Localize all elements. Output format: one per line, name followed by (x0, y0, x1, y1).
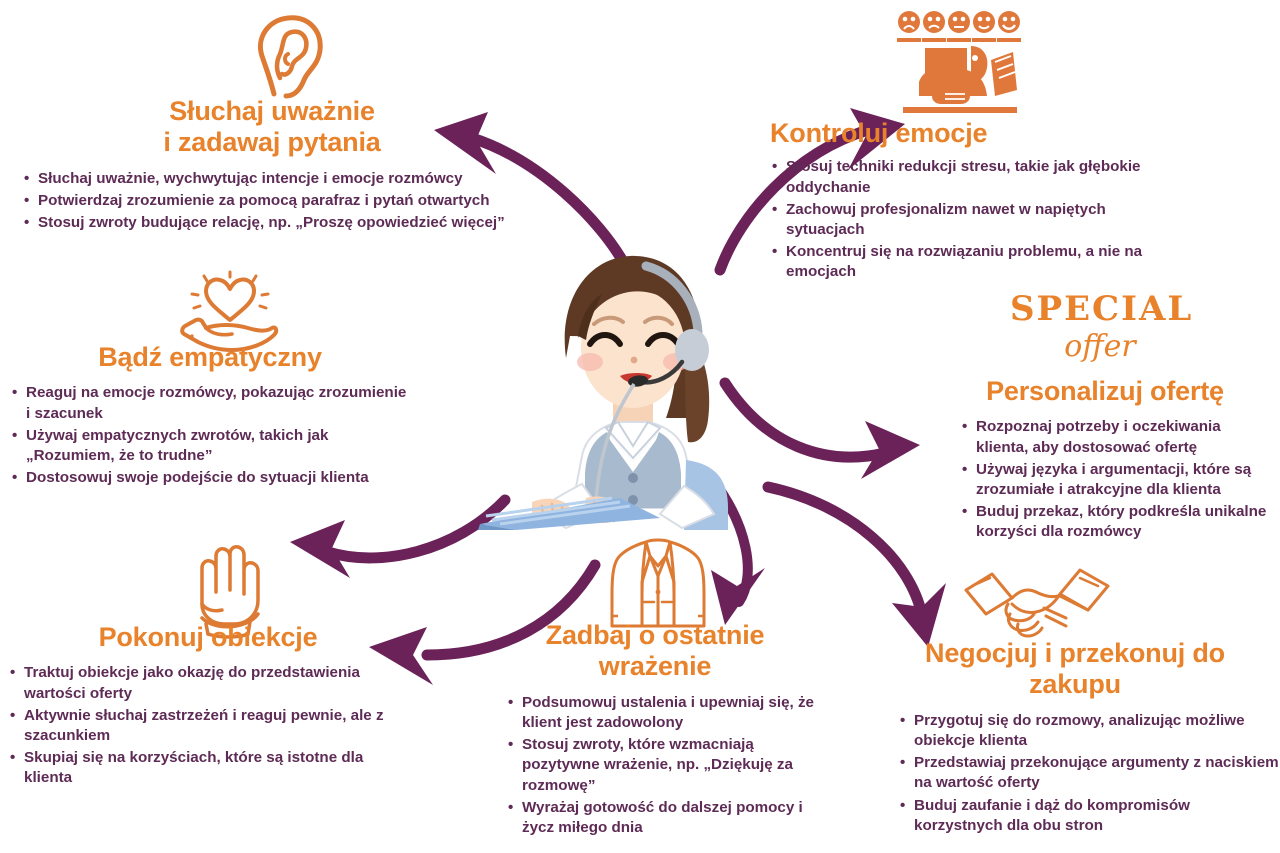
section-title-sluchaj: Słuchaj uważnie i zadawaj pytania (22, 96, 522, 159)
ear-icon (248, 12, 338, 100)
section-empatyczny: Bądź empatyczny Reaguj na emocje rozmówc… (10, 342, 410, 490)
special-offer-line1: SPECIAL (1010, 292, 1190, 326)
list-item: Buduj zaufanie i dąż do kompromisów korz… (898, 796, 1280, 836)
section-negocjuj: Negocjuj i przekonuj do zakupu Przygotuj… (870, 638, 1280, 838)
list-item: Stosuj zwroty, które wzmacniają pozytywn… (506, 735, 820, 796)
section-title-pokonuj: Pokonuj obiekcje (8, 622, 408, 653)
bullet-list-wrazenie: Podsumowuj ustalenia i upewniaj się, że … (490, 693, 820, 839)
list-item: Dostosowuj swoje podejście do sytuacji k… (10, 468, 410, 488)
title-line-1: Zadbaj o ostatnie (546, 620, 765, 650)
section-title-personalizuj: Personalizuj ofertę (940, 376, 1270, 407)
list-item: Buduj przekaz, który podkreśla unikalne … (960, 502, 1270, 542)
list-item: Potwierdzaj zrozumienie za pomocą parafr… (22, 191, 522, 211)
section-title-kontroluj: Kontroluj emocje (770, 118, 1170, 149)
list-item: Rozpoznaj potrzeby i oczekiwania klienta… (960, 417, 1270, 457)
list-item: Zachowuj profesjonalizm nawet w napiętyc… (770, 200, 1170, 240)
list-item: Skupiaj się na korzyściach, które są ist… (8, 748, 408, 788)
section-kontroluj: Kontroluj emocje Stosuj techniki redukcj… (770, 118, 1170, 285)
list-item: Używaj języka i argumentacji, które są z… (960, 460, 1270, 500)
section-pokonuj: Pokonuj obiekcje Traktuj obiekcje jako o… (8, 622, 408, 791)
handshake-icon (962, 552, 1112, 640)
special-offer-lettering: SPECIAL offer (1010, 292, 1190, 363)
title-line-2: i zadawaj pytania (163, 127, 380, 157)
special-offer-line2: offer (1010, 330, 1190, 363)
infographic-canvas: Słuchaj uważnie i zadawaj pytania Słucha… (0, 0, 1280, 853)
list-item: Słuchaj uważnie, wychwytując intencje i … (22, 169, 522, 189)
list-item: Przygotuj się do rozmowy, analizując moż… (898, 711, 1280, 751)
list-item: Aktywnie słuchaj zastrzeżeń i reaguj pew… (8, 706, 408, 746)
list-item: Używaj empatycznych zwrotów, takich jak … (10, 426, 410, 466)
title-line-1: Słuchaj uważnie (169, 96, 375, 126)
bullet-list-sluchaj: Słuchaj uważnie, wychwytując intencje i … (22, 169, 522, 234)
section-wrazenie: Zadbaj o ostatnie wrażenie Podsumowuj us… (490, 620, 820, 840)
title-line-2: wrażenie (599, 651, 711, 681)
section-title-negocjuj: Negocjuj i przekonuj do zakupu (870, 638, 1280, 701)
section-title-wrazenie: Zadbaj o ostatnie wrażenie (490, 620, 820, 683)
call-center-agent-illustration (470, 240, 780, 530)
suit-jacket-icon (608, 536, 708, 632)
section-title-empatyczny: Bądź empatyczny (10, 342, 410, 373)
list-item: Koncentruj się na rozwiązaniu problemu, … (770, 242, 1170, 282)
list-item: Reaguj na emocje rozmówcy, pokazując zro… (10, 383, 410, 423)
list-item: Przedstawiaj przekonujące argumenty z na… (898, 753, 1280, 793)
section-sluchaj: Słuchaj uważnie i zadawaj pytania Słucha… (22, 96, 522, 235)
list-item: Stosuj zwroty budujące relację, np. „Pro… (22, 213, 522, 233)
bullet-list-pokonuj: Traktuj obiekcje jako okazję do przedsta… (8, 663, 408, 788)
section-personalizuj: Personalizuj ofertę Rozpoznaj potrzeby i… (940, 376, 1270, 545)
bullet-list-kontroluj: Stosuj techniki redukcji stresu, takie j… (770, 157, 1170, 282)
list-item: Podsumowuj ustalenia i upewniaj się, że … (506, 693, 820, 733)
emotions-survey-icon (895, 8, 1025, 120)
list-item: Stosuj techniki redukcji stresu, takie j… (770, 157, 1170, 197)
title-line-1: Negocjuj i przekonuj do (925, 638, 1225, 668)
bullet-list-empatyczny: Reaguj na emocje rozmówcy, pokazując zro… (10, 383, 410, 488)
bullet-list-negocjuj: Przygotuj się do rozmowy, analizując moż… (870, 711, 1280, 836)
title-line-2: zakupu (1029, 669, 1121, 699)
bullet-list-personalizuj: Rozpoznaj potrzeby i oczekiwania klienta… (940, 417, 1270, 542)
list-item: Wyrażaj gotowość do dalszej pomocy i życ… (506, 798, 820, 838)
list-item: Traktuj obiekcje jako okazję do przedsta… (8, 663, 408, 703)
